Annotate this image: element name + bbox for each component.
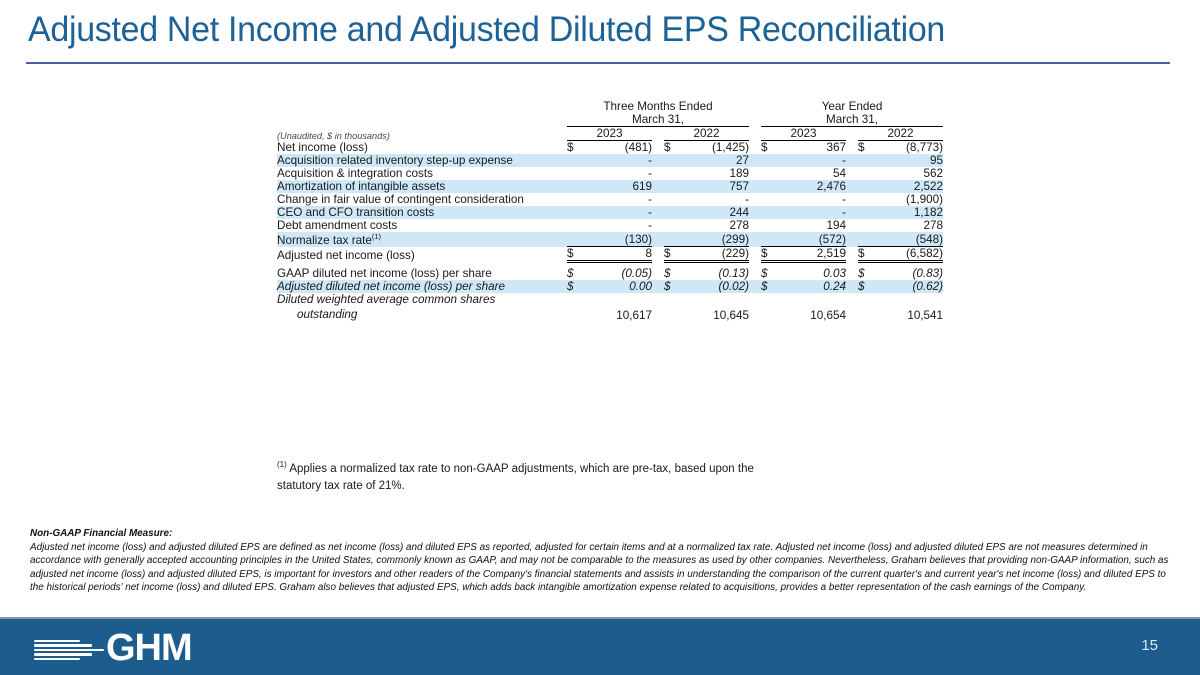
reconciliation-table: Three Months Ended Year Ended March 31, … — [277, 100, 943, 322]
row-label-inventory-stepup: Acquisition related inventory step-up ex… — [277, 154, 567, 167]
row-label-debt-amendment: Debt amendment costs — [277, 219, 567, 232]
cell-value: 367 — [783, 141, 846, 155]
cell-value: 189 — [686, 167, 749, 180]
table-row: CEO and CFO transition costs - 244 - 1,1… — [277, 206, 943, 219]
table-row: Change in fair value of contingent consi… — [277, 193, 943, 206]
page-number: 15 — [1141, 637, 1158, 654]
row-label-adjusted-net-income: Adjusted net income (loss) — [277, 247, 567, 262]
cell-value: 2,522 — [880, 180, 943, 193]
table-year-header-row: (Unaudited, $ in thousands) 2023 2022 20… — [277, 127, 943, 141]
cell-value: 278 — [880, 219, 943, 232]
ghm-logo: GHM — [34, 628, 192, 668]
cell-value: 1,182 — [880, 206, 943, 219]
group-header-year-ended: Year Ended — [761, 100, 943, 113]
cell-value: - — [589, 167, 652, 180]
cell-value: 757 — [686, 180, 749, 193]
currency-symbol: $ — [858, 267, 880, 280]
cell-value: (1,425) — [686, 141, 749, 155]
currency-symbol: $ — [567, 267, 589, 280]
currency-symbol: $ — [858, 141, 880, 155]
currency-symbol: $ — [664, 141, 686, 155]
logo-text: GHM — [106, 629, 192, 667]
cell-value: - — [589, 193, 652, 206]
cell-value: 244 — [686, 206, 749, 219]
table-row: Adjusted diluted net income (loss) per s… — [277, 280, 943, 293]
table-row: GAAP diluted net income (loss) per share… — [277, 267, 943, 280]
page-title: Adjusted Net Income and Adjusted Diluted… — [28, 10, 945, 50]
cell-value: (6,582) — [880, 247, 943, 262]
table-row: Amortization of intangible assets 619 75… — [277, 180, 943, 193]
cell-value: (1,900) — [880, 193, 943, 206]
cell-value: 10,645 — [686, 293, 749, 322]
cell-value: 562 — [880, 167, 943, 180]
currency-symbol: $ — [761, 247, 783, 262]
spacer-cell — [749, 100, 761, 113]
cell-value: (0.83) — [880, 267, 943, 280]
table-footnote: (1) Applies a normalized tax rate to non… — [277, 459, 797, 494]
row-label-net-income: Net income (loss) — [277, 141, 567, 155]
footnote-marker: (1) — [372, 232, 381, 241]
non-gaap-disclosure: Non-GAAP Financial Measure: Adjusted net… — [30, 527, 1175, 595]
currency-symbol: $ — [567, 141, 589, 155]
cell-value: (572) — [783, 232, 846, 247]
table-row: Diluted weighted average common sharesou… — [277, 293, 943, 322]
cell-value: - — [783, 154, 846, 167]
footnote-marker: (1) — [277, 460, 287, 469]
column-header-q-2023: 2023 — [567, 127, 652, 141]
table-row: Normalize tax rate(1) (130) (299) (572) … — [277, 232, 943, 247]
spacer-cell — [277, 100, 567, 113]
cell-value: 54 — [783, 167, 846, 180]
currency-symbol: $ — [567, 280, 589, 293]
row-label-normalize-tax-rate: Normalize tax rate(1) — [277, 232, 567, 247]
row-label-line2: outstanding — [277, 308, 567, 322]
cell-value: 27 — [686, 154, 749, 167]
currency-symbol: $ — [858, 280, 880, 293]
row-label-ceo-cfo-transition: CEO and CFO transition costs — [277, 206, 567, 219]
currency-symbol: $ — [761, 280, 783, 293]
row-label-text: Normalize tax rate — [277, 234, 372, 247]
currency-symbol: $ — [664, 280, 686, 293]
cell-value: (299) — [686, 232, 749, 247]
unaudited-note: (Unaudited, $ in thousands) — [277, 127, 567, 141]
non-gaap-body: Adjusted net income (loss) and adjusted … — [30, 542, 1168, 594]
table-row-total: Adjusted net income (loss) $ 8 $ (229) $… — [277, 247, 943, 262]
cell-value: 194 — [783, 219, 846, 232]
cell-value: 0.24 — [783, 280, 846, 293]
table-group-header-row: Three Months Ended Year Ended — [277, 100, 943, 113]
table-row: Acquisition & integration costs - 189 54… — [277, 167, 943, 180]
cell-value: 2,519 — [783, 247, 846, 262]
cell-value: 10,617 — [589, 293, 652, 322]
cell-value: (8,773) — [880, 141, 943, 155]
cell-value: (130) — [589, 232, 652, 247]
non-gaap-heading: Non-GAAP Financial Measure: — [30, 527, 1175, 541]
cell-value: 2,476 — [783, 180, 846, 193]
row-label-diluted-weighted-shares: Diluted weighted average common sharesou… — [277, 293, 567, 322]
cell-value: (0.05) — [589, 267, 652, 280]
cell-value: - — [783, 193, 846, 206]
title-divider — [26, 62, 1170, 64]
column-header-y-2022: 2022 — [858, 127, 943, 141]
cell-value: 278 — [686, 219, 749, 232]
currency-symbol: $ — [567, 247, 589, 262]
currency-symbol: $ — [761, 267, 783, 280]
row-label-adjusted-diluted-eps: Adjusted diluted net income (loss) per s… — [277, 280, 567, 293]
row-label-amortization: Amortization of intangible assets — [277, 180, 567, 193]
table-row: Acquisition related inventory step-up ex… — [277, 154, 943, 167]
cell-value: - — [589, 219, 652, 232]
row-label-contingent-consideration: Change in fair value of contingent consi… — [277, 193, 567, 206]
table-row: Debt amendment costs - 278 194 278 — [277, 219, 943, 232]
cell-value: (0.02) — [686, 280, 749, 293]
cell-value: 10,654 — [783, 293, 846, 322]
footnote-text: Applies a normalized tax rate to non-GAA… — [277, 463, 754, 492]
table-row: Net income (loss) $ (481) $ (1,425) $ 36… — [277, 141, 943, 155]
cell-value: (481) — [589, 141, 652, 155]
group-header-three-months: Three Months Ended — [567, 100, 749, 113]
cell-value: (0.13) — [686, 267, 749, 280]
cell-value: 8 — [589, 247, 652, 262]
currency-symbol: $ — [858, 247, 880, 262]
cell-value: - — [686, 193, 749, 206]
currency-symbol: $ — [664, 247, 686, 262]
column-header-q-2022: 2022 — [664, 127, 749, 141]
row-label-acquisition-integration: Acquisition & integration costs — [277, 167, 567, 180]
cell-value: 95 — [880, 154, 943, 167]
group-subheader-year-ended-date: March 31, — [761, 113, 943, 127]
cell-value: - — [783, 206, 846, 219]
cell-value: 0.03 — [783, 267, 846, 280]
row-label-line1: Diluted weighted average common shares — [277, 293, 495, 306]
reconciliation-table-container: Three Months Ended Year Ended March 31, … — [277, 100, 927, 322]
table-group-subheader-row: March 31, March 31, — [277, 113, 943, 127]
cell-value: (0.62) — [880, 280, 943, 293]
currency-symbol: $ — [664, 267, 686, 280]
speed-lines-icon — [34, 636, 104, 660]
cell-value: 10,541 — [880, 293, 943, 322]
slide-footer: GHM 15 — [0, 619, 1200, 675]
row-label-gaap-diluted-eps: GAAP diluted net income (loss) per share — [277, 267, 567, 280]
currency-symbol: $ — [761, 141, 783, 155]
cell-value: - — [589, 154, 652, 167]
cell-value: (548) — [880, 232, 943, 247]
group-subheader-three-months-date: March 31, — [567, 113, 749, 127]
cell-value: (229) — [686, 247, 749, 262]
column-header-y-2023: 2023 — [761, 127, 846, 141]
cell-value: 0.00 — [589, 280, 652, 293]
cell-value: - — [589, 206, 652, 219]
cell-value: 619 — [589, 180, 652, 193]
